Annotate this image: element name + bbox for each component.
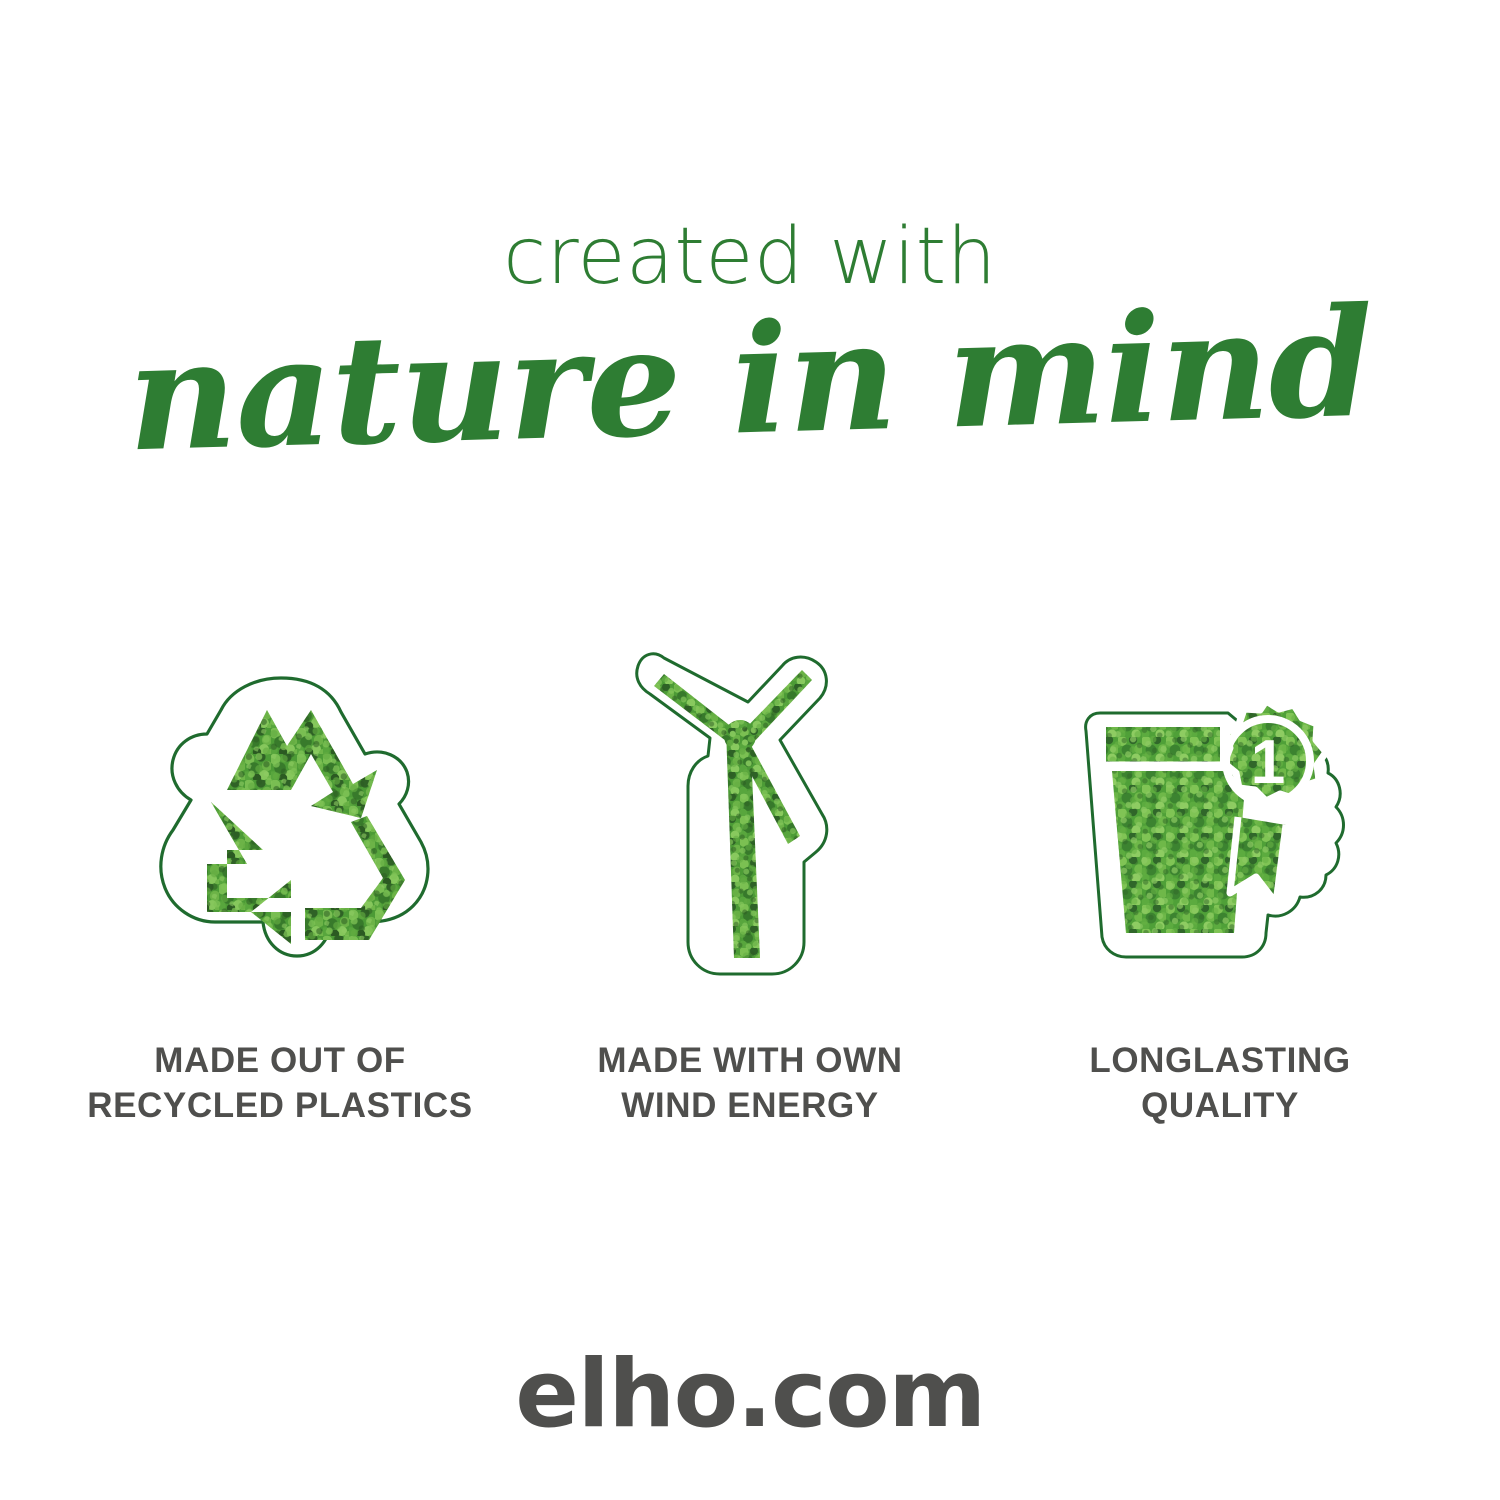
- feature-row: MADE OUT OF RECYCLED PLASTICS: [0, 615, 1500, 1129]
- headline-block: created with nature in mind: [0, 218, 1500, 460]
- feature-caption-recycled-plastics: MADE OUT OF RECYCLED PLASTICS: [87, 1039, 473, 1129]
- poster-root: created with nature in mind: [0, 0, 1500, 1500]
- plant-pot-award-icon: 1: [1050, 615, 1390, 1015]
- recycling-arrows: [207, 710, 405, 944]
- medal-number: 1: [1251, 728, 1285, 797]
- headline-line-2: nature in mind: [0, 281, 1500, 480]
- feature-wind-energy: MADE WITH OWN WIND ENERGY: [515, 615, 985, 1129]
- wind-turbine-icon: [580, 615, 920, 1015]
- pot-award-body: [1106, 701, 1326, 933]
- feature-caption-wind-energy: MADE WITH OWN WIND ENERGY: [597, 1039, 902, 1129]
- recycling-symbol-icon: [110, 615, 450, 1015]
- elho-logo[interactable]: elho.com: [0, 1348, 1500, 1442]
- recycling-outline: [161, 678, 428, 956]
- feature-caption-longlasting-quality: LONGLASTING QUALITY: [1089, 1039, 1350, 1129]
- feature-longlasting-quality: 1 LONGLASTING QUALITY: [985, 615, 1455, 1129]
- feature-recycled-plastics: MADE OUT OF RECYCLED PLASTICS: [45, 615, 515, 1129]
